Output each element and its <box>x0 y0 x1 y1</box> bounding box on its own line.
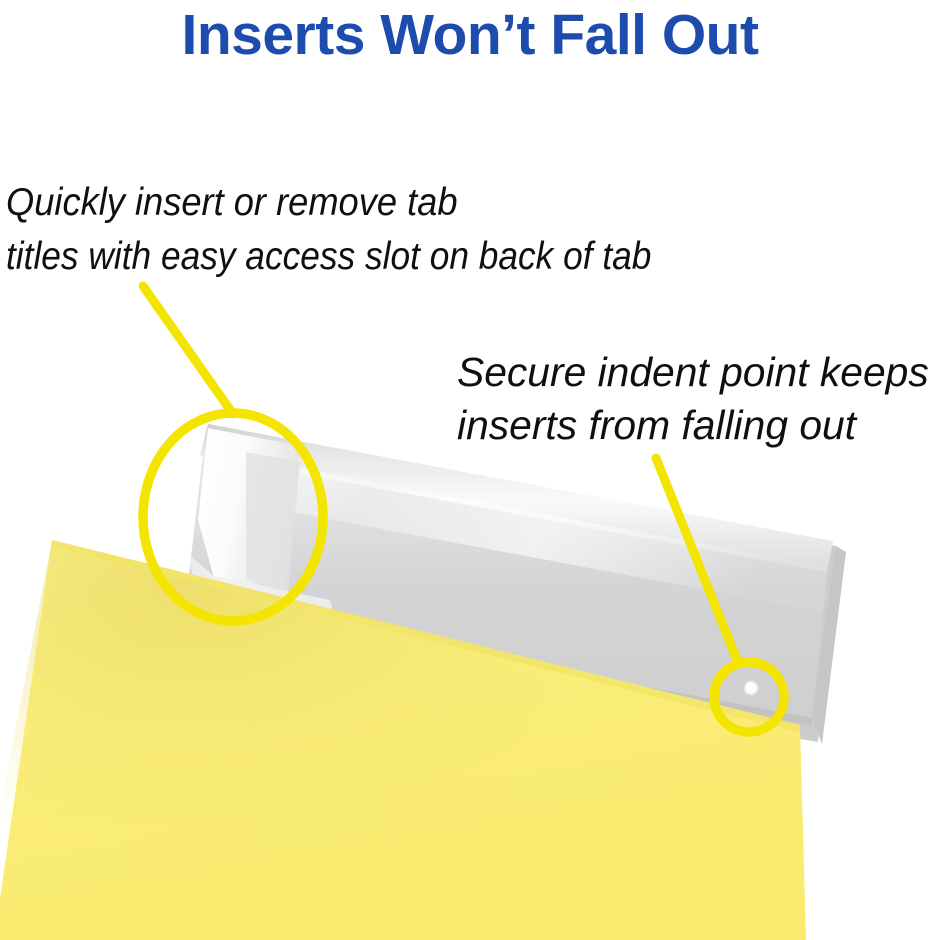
secure-indent-point <box>742 679 760 697</box>
callout-insert-remove-tab: Quickly insert or remove tab titles with… <box>6 176 719 284</box>
callout-left-line-1: Quickly insert or remove tab <box>6 176 669 230</box>
product-photo <box>0 0 940 940</box>
callout-right-line-2: inserts from falling out <box>457 399 929 452</box>
callout-right-line-1: Secure indent point keeps <box>457 346 929 399</box>
page-title: Inserts Won’t Fall Out <box>0 4 940 66</box>
infographic-canvas: Inserts Won’t Fall Out Quickly insert or… <box>0 0 940 940</box>
callout-secure-indent-point: Secure indent point keeps inserts from f… <box>457 346 931 452</box>
callout-left-line-2: titles with easy access slot on back of … <box>6 230 651 284</box>
